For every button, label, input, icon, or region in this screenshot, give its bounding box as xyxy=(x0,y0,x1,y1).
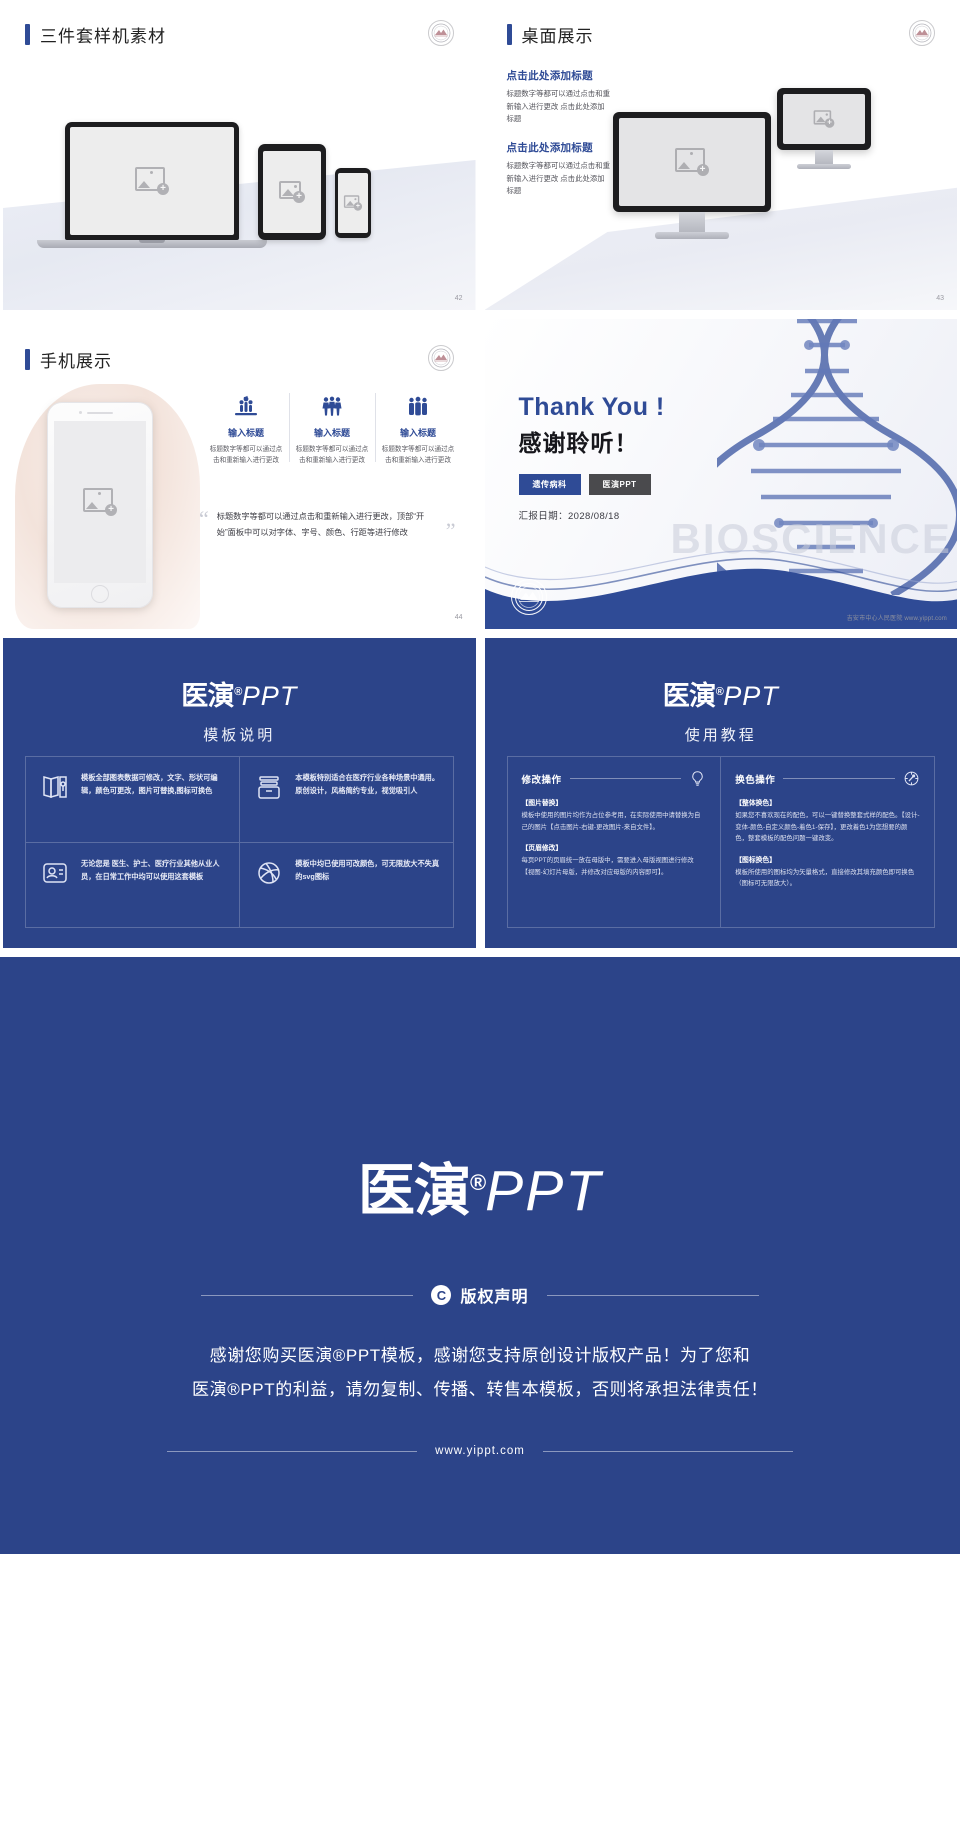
feature-title: 输入标题 xyxy=(209,426,283,439)
tutorial-block: 【整体换色】 如果您不喜欢现在的配色，可以一键替换整套式样的配色。【设计-变体-… xyxy=(735,797,920,845)
user-id-icon xyxy=(39,857,71,889)
row-gap xyxy=(0,310,960,319)
brand-registered-mark: ® xyxy=(470,1170,485,1195)
brand-ppt: PPT xyxy=(723,681,779,711)
tutorial-column: 换色操作 【整体换色】 如果您不喜 xyxy=(720,757,934,927)
copyright-body: 感谢您购买医演®PPT模板，感谢您支持原创设计版权产品！为了您和 医演®PPT的… xyxy=(192,1339,768,1407)
divider-line-left xyxy=(201,1295,413,1296)
phone-display-area: + xyxy=(54,421,146,583)
brand-block: 医演®PPT xyxy=(485,638,958,713)
feature-item: 输入标题 标题数字等都可以通过点击和重新输入进行更改 xyxy=(203,389,289,466)
copyright-heading-text: 版权声明 xyxy=(460,1283,528,1307)
slide-header: 手机展示 xyxy=(25,347,112,372)
slide-thank-you[interactable]: BIOSCIENCE Thank You ! 感谢聆听！ 遗传病科 医演PPT … xyxy=(485,319,958,629)
copyright-url-row: www.yippt.com xyxy=(167,1445,793,1457)
book-pages-icon xyxy=(39,771,71,803)
slide-phone-display[interactable]: 手机展示 + xyxy=(3,319,476,629)
team-meeting-icon xyxy=(209,389,283,419)
tutorial-column-heading: 修改操作 xyxy=(522,772,562,786)
feature-body: 标题数字等都可以通过点击和重新输入进行更改 xyxy=(381,444,455,466)
monitor-foot xyxy=(797,164,851,169)
block-heading: 点击此处添加标题 xyxy=(507,140,611,155)
copyright-body-line-2: 医演®PPT的利益，请勿复制、传播、转售本模板，否则将承担法律责任！ xyxy=(192,1373,768,1407)
website-url[interactable]: www.yippt.com xyxy=(435,1445,525,1457)
slide-page-number: 43 xyxy=(936,295,944,302)
slide-footer-text: 吉安市中心人民医院 www.yippt.com xyxy=(847,613,947,622)
image-placeholder-icon: + xyxy=(83,488,117,516)
title-accent-bar xyxy=(25,24,30,45)
info-card: 模板全部图表数据可修改，文字、形状可编辑，颜色可更改，图片可替换,图标可换色 xyxy=(26,757,239,842)
info-card-text: 模板全部图表数据可修改，文字、形状可编辑，颜色可更改，图片可替换,图标可换色 xyxy=(81,771,226,798)
feature-columns: 输入标题 标题数字等都可以通过点击和重新输入进行更改 输入标题 标题数字等都可以… xyxy=(203,389,461,466)
phone-mockup: + xyxy=(335,168,371,238)
image-placeholder-icon: + xyxy=(813,110,834,128)
brand-logo-large: 医演®PPT xyxy=(358,1145,602,1227)
tutorial-block: 【图标换色】 模板所使用的图标均为矢量格式，直接修改其填充颜色即可换色（图标可无… xyxy=(735,854,920,890)
tutorial-column: 修改操作 【图片替换】 模板中使用的图片均作为占位参考用，在实际使用中请替换为自… xyxy=(508,757,721,927)
block-body: 标题数字等都可以通过点击和重新输入进行更改 点击此处添加标题 xyxy=(507,160,611,198)
divider-line-right xyxy=(547,1295,759,1296)
title-accent-bar xyxy=(25,349,30,370)
slides-overview-page: 三件套样机素材 + xyxy=(0,0,960,1840)
monitor-neck xyxy=(815,150,833,164)
slide-title: 三件套样机素材 xyxy=(40,22,166,47)
tutorial-column-header: 换色操作 xyxy=(735,770,920,787)
slide-title: 手机展示 xyxy=(40,347,112,372)
copyright-heading-row: C 版权声明 xyxy=(201,1283,758,1307)
slide-header: 桌面展示 xyxy=(507,22,594,47)
slide-subtitle: 使用教程 xyxy=(485,724,958,745)
block-heading: 点击此处添加标题 xyxy=(507,68,611,83)
title-accent-bar xyxy=(507,24,512,45)
brand-name: 医演 xyxy=(663,681,716,711)
phone-camera xyxy=(79,411,82,414)
slide-template-info[interactable]: 医演®PPT 模板说明 模板全部图表数据可修改，文字、形状可编辑，颜色可更改，图… xyxy=(3,638,476,948)
hospital-seal-icon xyxy=(428,20,454,46)
tutorial-column-header: 修改操作 xyxy=(522,770,707,787)
feature-body: 标题数字等都可以通过点击和重新输入进行更改 xyxy=(209,444,283,466)
image-placeholder-icon: + xyxy=(279,181,305,203)
tutorial-column-heading: 换色操作 xyxy=(735,772,775,786)
tutorial-block-text: 模板所使用的图标均为矢量格式，直接修改其填充颜色即可换色（图标可无限放大）。 xyxy=(735,867,920,890)
feature-body: 标题数字等都可以通过点击和重新输入进行更改 xyxy=(295,444,369,466)
laptop-screen: + xyxy=(65,122,239,240)
image-placeholder-icon: + xyxy=(135,167,169,195)
feature-item: 输入标题 标题数字等都可以通过点击和重新输入进行更改 xyxy=(289,389,375,466)
slide-subtitle: 模板说明 xyxy=(3,724,476,745)
tag-row: 遗传病科 医演PPT xyxy=(519,474,665,495)
brand-registered-mark: ® xyxy=(234,686,242,698)
slide-row-2: 手机展示 + xyxy=(0,319,960,629)
quote-block: “ 标题数字等都可以通过点击和重新输入进行更改，顶部“开始”面板中可以对字体、字… xyxy=(199,509,456,541)
tablet-mockup: + xyxy=(258,144,326,240)
copyright-body-line-1: 感谢您购买医演®PPT模板，感谢您支持原创设计版权产品！为了您和 xyxy=(192,1339,768,1373)
tutorial-block-text: 如果您不喜欢现在的配色，可以一键替换整套式样的配色。【设计-变体-颜色-自定义颜… xyxy=(735,810,920,845)
slide-row-1: 三件套样机素材 + xyxy=(0,0,960,310)
brand-logo: 医演®PPT xyxy=(663,674,779,713)
feature-title: 输入标题 xyxy=(381,426,455,439)
phone-device: + xyxy=(47,402,153,608)
brand-name: 医演 xyxy=(358,1159,470,1223)
tutorial-columns: 修改操作 【图片替换】 模板中使用的图片均作为占位参考用，在实际使用中请替换为自… xyxy=(507,756,936,928)
tablet-screen: + xyxy=(258,144,326,240)
slide-header: 三件套样机素材 xyxy=(25,22,166,47)
monitor-screen: + xyxy=(613,112,771,212)
slide-mockup-three-devices[interactable]: 三件套样机素材 + xyxy=(3,0,476,310)
feature-item: 输入标题 标题数字等都可以通过点击和重新输入进行更改 xyxy=(375,389,461,466)
slide-title: 桌面展示 xyxy=(522,22,594,47)
text-block-1: 点击此处添加标题 标题数字等都可以通过点击和重新输入进行更改 点击此处添加标题 xyxy=(507,68,611,126)
thank-you-english: Thank You ! xyxy=(519,393,665,422)
people-group-icon xyxy=(295,389,369,419)
slide-row-3: 医演®PPT 模板说明 模板全部图表数据可修改，文字、形状可编辑，颜色可更改，图… xyxy=(0,638,960,948)
slide-tutorial[interactable]: 医演®PPT 使用教程 修改操作 xyxy=(485,638,958,948)
tutorial-block: 【图片替换】 模板中使用的图片均作为占位参考用，在实际使用中请替换为自己的图片【… xyxy=(522,797,707,833)
quote-close-icon: ” xyxy=(446,521,456,541)
tutorial-block-text: 每页PPT的页眉统一放在母版中，需要进入母版视图进行修改【视图-幻灯片母版，并修… xyxy=(522,855,707,878)
phone-home-button xyxy=(91,585,109,603)
row-gap xyxy=(0,629,960,638)
brand-logo: 医演®PPT xyxy=(181,674,297,713)
monitor-foot xyxy=(655,232,729,239)
quote-text: 标题数字等都可以通过点击和重新输入进行更改，顶部“开始”面板中可以对字体、字号、… xyxy=(217,509,438,541)
phone-screen-content: + xyxy=(338,173,368,233)
phone-speaker xyxy=(87,412,113,414)
tag-primary[interactable]: 遗传病科 xyxy=(519,474,581,495)
tutorial-block: 【页眉修改】 每页PPT的页眉统一放在母版中，需要进入母版视图进行修改【视图-幻… xyxy=(522,842,707,878)
slide-desktop-display[interactable]: 桌面展示 点击此处添加标题 标题数字等都可以通过点击和重新输入进行更改 点击此处… xyxy=(485,0,958,310)
laptop-screen-content: + xyxy=(70,127,234,235)
slide-page-number: 44 xyxy=(455,614,463,621)
quote-open-icon: “ xyxy=(199,509,209,541)
info-card: 本模板特别适合在医疗行业各种场景中通用。原创设计，风格简约专业，视觉吸引人 xyxy=(239,757,452,842)
tutorial-block-title: 【页眉修改】 xyxy=(522,842,707,852)
thank-you-chinese: 感谢聆听！ xyxy=(519,424,665,458)
hand-holding-phone-mockup: + xyxy=(15,384,200,629)
image-placeholder-icon: + xyxy=(675,148,709,176)
info-card-grid: 模板全部图表数据可修改，文字、形状可编辑，颜色可更改，图片可替换,图标可换色 本… xyxy=(25,756,454,928)
archive-box-icon xyxy=(253,771,285,803)
feature-title: 输入标题 xyxy=(295,426,369,439)
row-gap xyxy=(0,948,960,957)
hospital-seal-icon xyxy=(909,20,935,46)
divider-line xyxy=(570,778,682,779)
tablet-screen-content: + xyxy=(263,151,321,233)
tag-secondary[interactable]: 医演PPT xyxy=(589,474,651,495)
monitor-mockup-primary: + xyxy=(613,112,771,239)
info-card: 无论您是 医生、护士、医疗行业其他从业人员，在日常工作中均可以使用这套模板 xyxy=(26,842,239,928)
text-block-2: 点击此处添加标题 标题数字等都可以通过点击和重新输入进行更改 点击此处添加标题 xyxy=(507,140,611,198)
lightbulb-icon xyxy=(689,770,706,787)
hospital-seal-icon xyxy=(511,579,547,615)
brand-ppt: PPT xyxy=(485,1159,602,1223)
monitor-screen-content: + xyxy=(783,94,865,144)
monitor-mockup-secondary: + xyxy=(777,88,871,169)
block-body: 标题数字等都可以通过点击和重新输入进行更改 点击此处添加标题 xyxy=(507,88,611,126)
copyright-c-icon: C xyxy=(431,1285,451,1305)
tutorial-block-text: 模板中使用的图片均作为占位参考用，在实际使用中请替换为自己的图片【点击图片-右键… xyxy=(522,810,707,833)
divider-line-left xyxy=(167,1451,417,1452)
laptop-base xyxy=(37,240,267,248)
info-card-text: 无论您是 医生、护士、医疗行业其他从业人员，在日常工作中均可以使用这套模板 xyxy=(81,857,226,884)
laptop-mockup: + xyxy=(65,122,267,248)
monitor-screen-content: + xyxy=(619,118,765,206)
phone-screen: + xyxy=(335,168,371,238)
divider-line-right xyxy=(543,1451,793,1452)
thank-you-content: Thank You ! 感谢聆听！ 遗传病科 医演PPT 汇报日期：2028/0… xyxy=(519,393,665,522)
brand-name: 医演 xyxy=(181,681,234,711)
slide-page-number: 42 xyxy=(455,295,463,302)
report-date: 汇报日期：2028/08/18 xyxy=(519,508,665,522)
info-card-text: 模板中均已使用可改颜色，可无限放大不失真的svg图标 xyxy=(295,857,439,884)
tutorial-block-title: 【图标换色】 xyxy=(735,854,920,864)
image-placeholder-icon: + xyxy=(344,195,362,210)
people-three-icon xyxy=(381,389,455,419)
brand-ppt: PPT xyxy=(242,681,298,711)
info-card-text: 本模板特别适合在医疗行业各种场景中通用。原创设计，风格简约专业，视觉吸引人 xyxy=(295,771,439,798)
brand-block: 医演®PPT xyxy=(3,638,476,713)
palette-icon xyxy=(903,770,920,787)
tutorial-block-title: 【整体换色】 xyxy=(735,797,920,807)
monitor-neck xyxy=(679,212,705,232)
tutorial-block-title: 【图片替换】 xyxy=(522,797,707,807)
dribbble-icon xyxy=(253,857,285,889)
slide-copyright[interactable]: 医演®PPT C 版权声明 感谢您购买医演®PPT模板，感谢您支持原创设计版权产… xyxy=(0,957,960,1554)
copyright-heading: C 版权声明 xyxy=(431,1283,528,1307)
monitor-screen: + xyxy=(777,88,871,150)
info-card: 模板中均已使用可改颜色，可无限放大不失真的svg图标 xyxy=(239,842,452,928)
divider-line xyxy=(783,778,895,779)
hospital-seal-icon xyxy=(428,345,454,371)
